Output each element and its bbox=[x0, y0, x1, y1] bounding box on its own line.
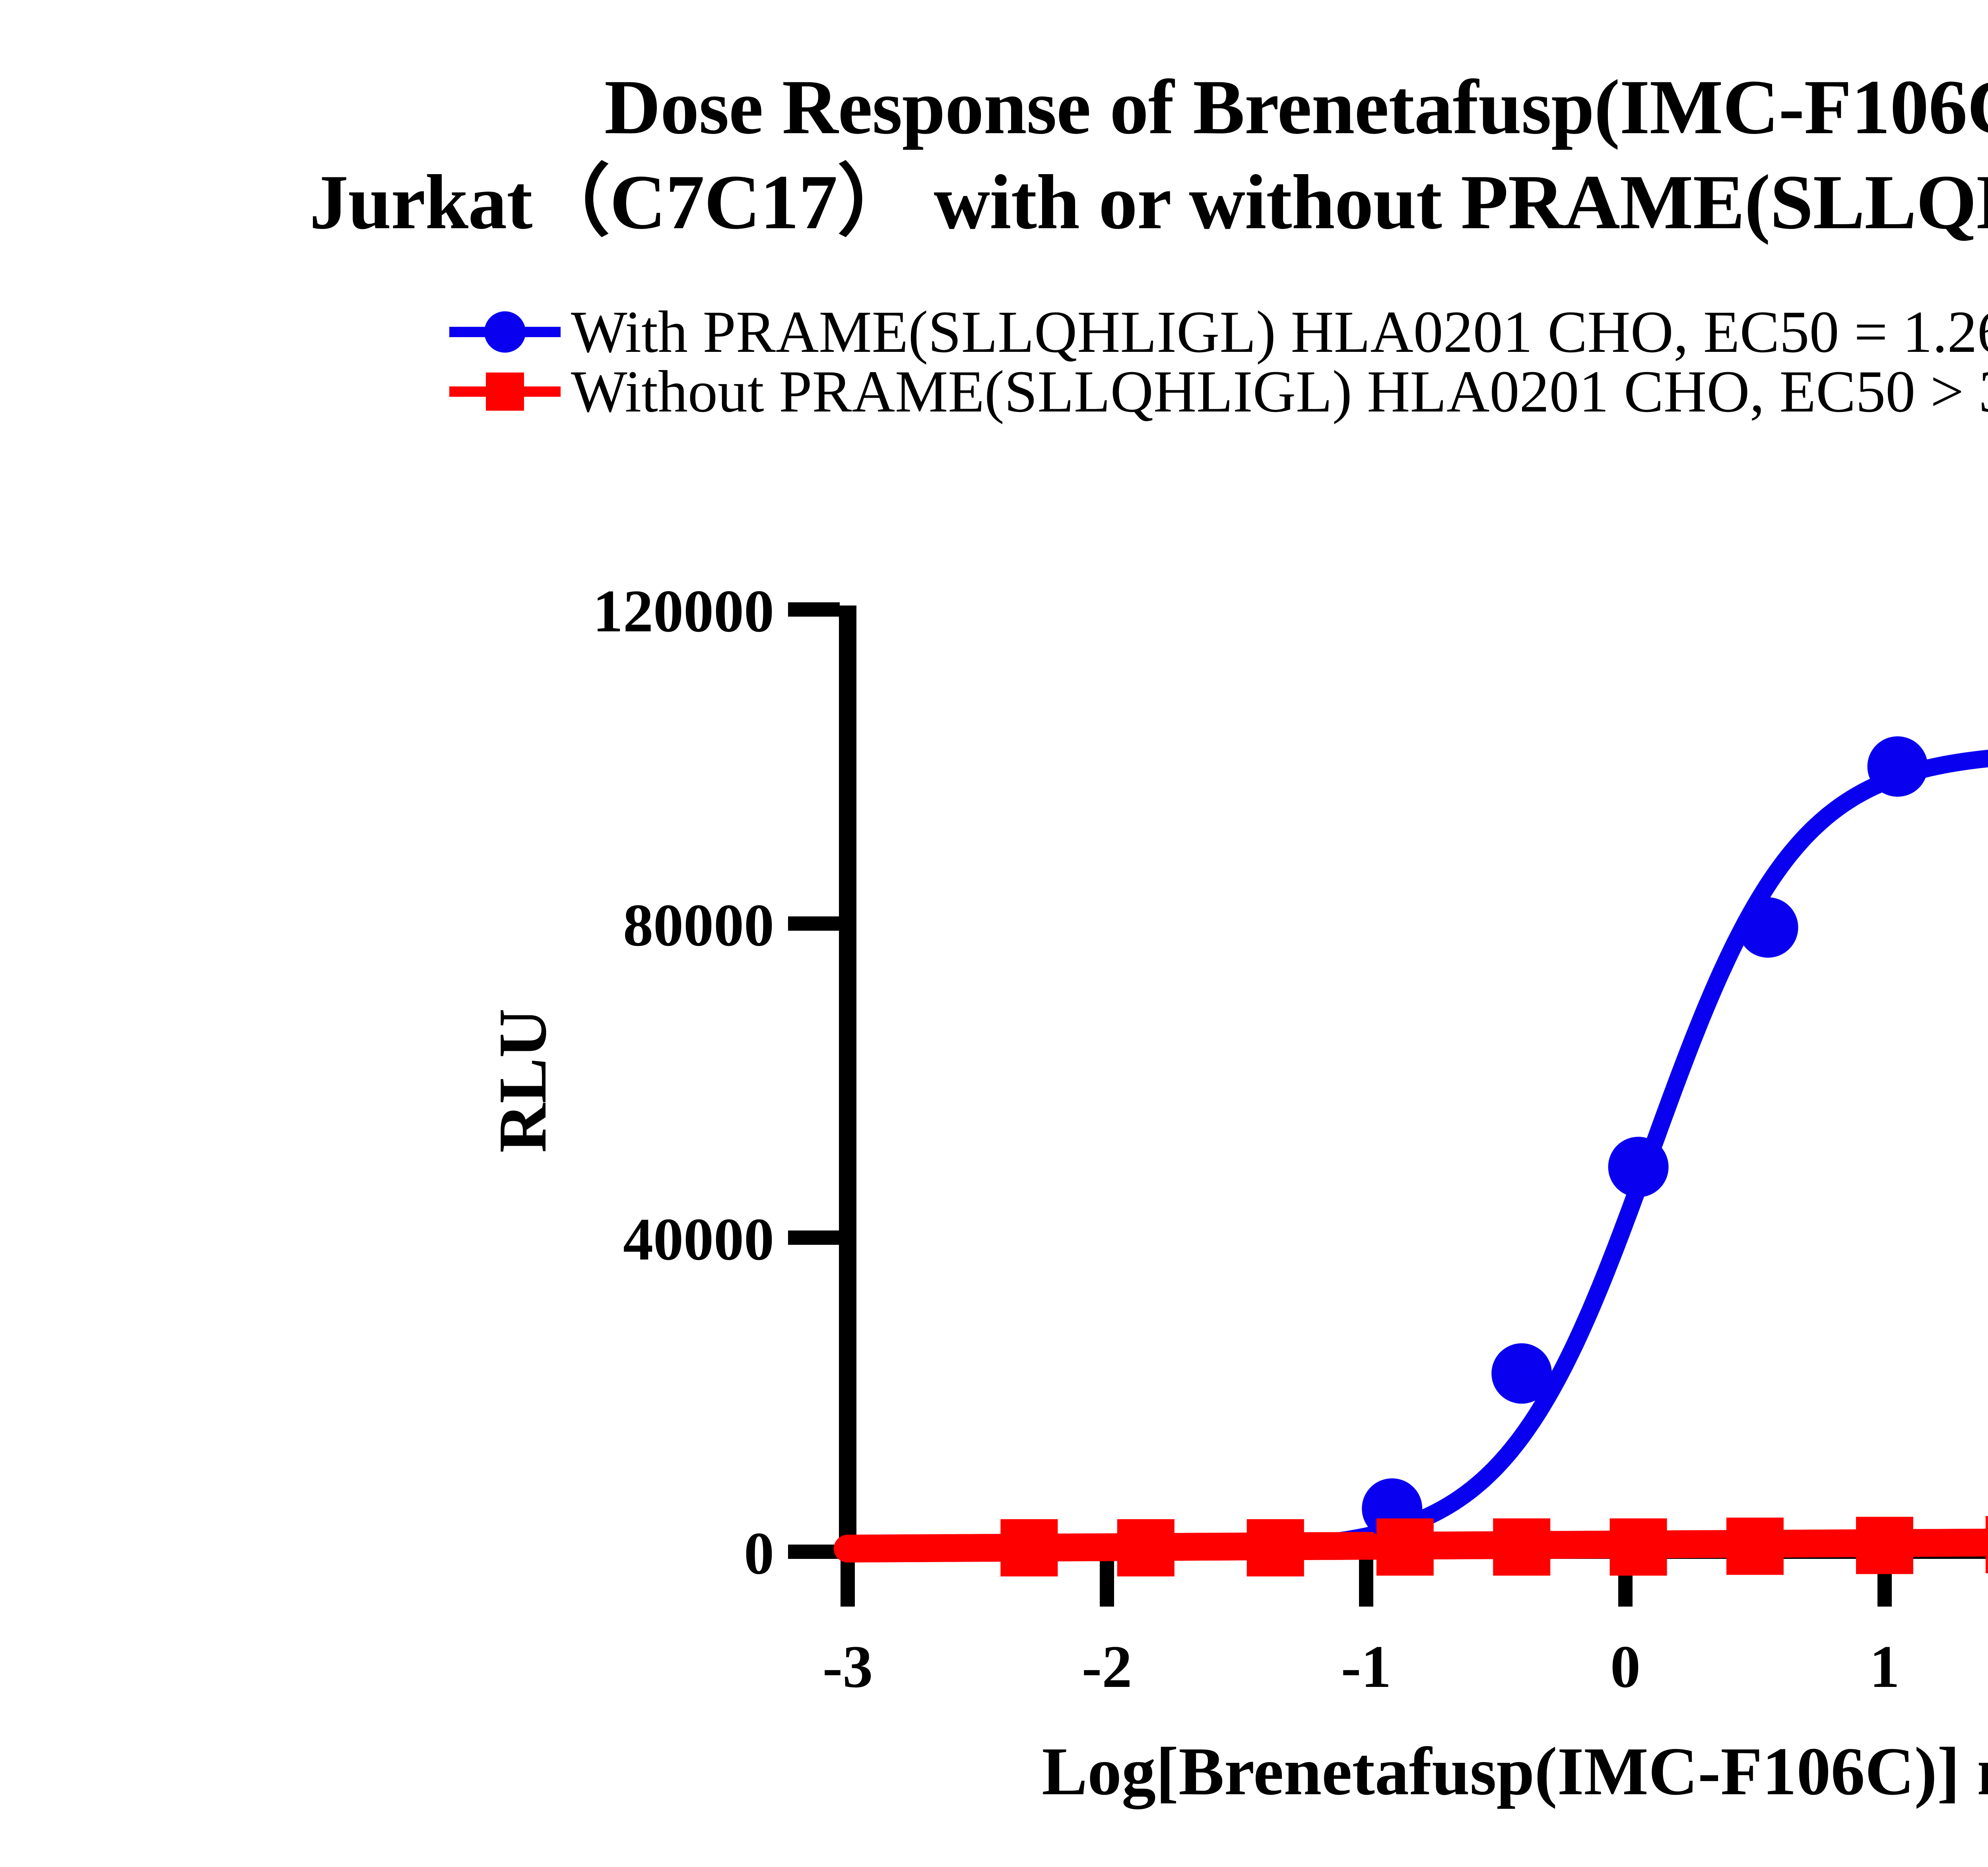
fit-curve-series-0 bbox=[848, 751, 1988, 1552]
x-tick-label: -3 bbox=[823, 1633, 873, 1700]
chart-canvas: Dose Response of Brenetafusp(IMC-F106C) … bbox=[0, 0, 1988, 1867]
data-point-square bbox=[1726, 1518, 1784, 1575]
plot-area: 04000080000120000-3-2-1012Log[Brenetafus… bbox=[0, 0, 1988, 1867]
data-point-circle bbox=[1738, 897, 1798, 958]
y-tick-mark bbox=[788, 1230, 840, 1245]
x-tick-label: 0 bbox=[1610, 1633, 1640, 1700]
y-tick-mark bbox=[788, 602, 840, 617]
data-point-square bbox=[1986, 1516, 1988, 1573]
x-tick-mark bbox=[1100, 1559, 1114, 1607]
y-tick-label: 80000 bbox=[623, 892, 774, 959]
data-point-square bbox=[1376, 1518, 1434, 1576]
y-axis-title: RLU bbox=[485, 1008, 561, 1153]
plot-svg: 04000080000120000-3-2-1012Log[Brenetafus… bbox=[0, 0, 1988, 1867]
data-point-square bbox=[1117, 1519, 1175, 1576]
data-point-circle bbox=[1608, 1137, 1669, 1197]
y-tick-mark bbox=[788, 1545, 840, 1559]
data-point-square bbox=[1000, 1519, 1058, 1576]
x-tick-mark bbox=[1359, 1559, 1373, 1607]
x-tick-label: 1 bbox=[1870, 1633, 1900, 1700]
y-tick-label: 120000 bbox=[593, 578, 774, 644]
y-axis-line bbox=[839, 606, 856, 1552]
x-tick-mark bbox=[841, 1559, 855, 1607]
y-tick-label: 40000 bbox=[623, 1206, 774, 1273]
data-point-square bbox=[1247, 1519, 1304, 1576]
y-tick-mark bbox=[788, 916, 840, 931]
y-tick-label: 0 bbox=[744, 1520, 774, 1587]
data-point-square bbox=[1610, 1518, 1667, 1576]
data-point-square bbox=[1493, 1518, 1550, 1576]
data-point-square bbox=[1856, 1517, 1913, 1574]
data-point-circle bbox=[1491, 1343, 1552, 1404]
x-tick-label: -1 bbox=[1341, 1633, 1392, 1700]
x-tick-label: -2 bbox=[1082, 1633, 1132, 1700]
x-axis-title: Log[Brenetafusp(IMC-F106C)] ng/ml bbox=[1042, 1734, 1988, 1809]
data-point-circle bbox=[1868, 736, 1928, 797]
